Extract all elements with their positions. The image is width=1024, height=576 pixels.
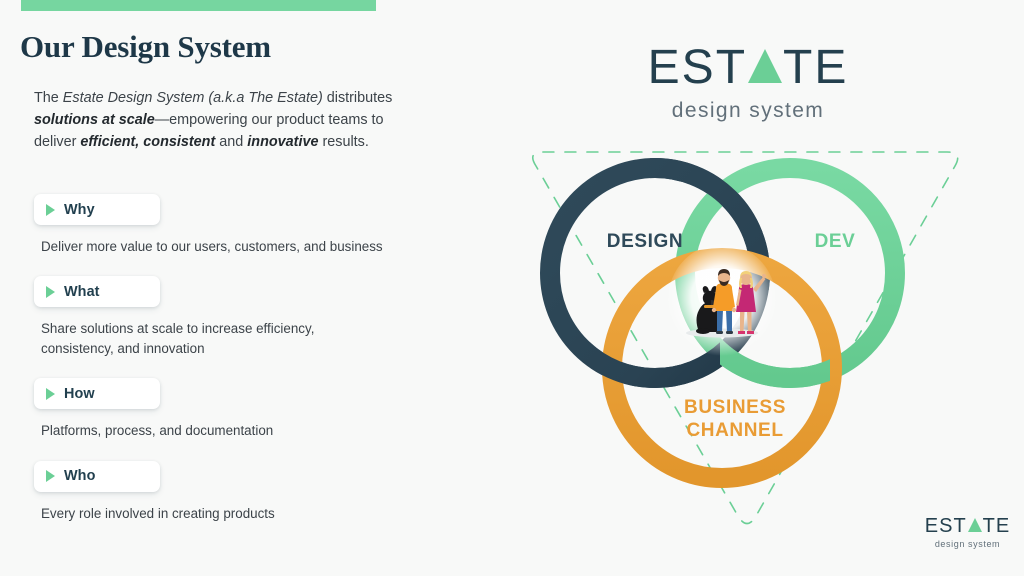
accordion-list: Why Deliver more value to our users, cus… bbox=[34, 194, 434, 523]
design-circle bbox=[550, 168, 760, 378]
man-figure bbox=[712, 269, 736, 334]
intro-text-2: distributes bbox=[323, 90, 393, 106]
dashed-triangle-outline bbox=[533, 152, 958, 524]
accordion-label-why: Why bbox=[64, 202, 95, 218]
logo-footer-text-after: TE bbox=[983, 516, 1011, 536]
business-channel-circle bbox=[612, 258, 832, 478]
accordion-body-how: Platforms, process, and documentation bbox=[41, 421, 386, 440]
logo-text-before: EST bbox=[648, 44, 747, 92]
center-glow bbox=[668, 244, 776, 356]
accordion-body-what: Share solutions at scale to increase eff… bbox=[41, 319, 386, 358]
estate-logo-footer-subtitle: design system bbox=[920, 539, 1015, 549]
intro-emphasis-3: efficient, consistent bbox=[80, 134, 215, 150]
left-content-column: Our Design System The Estate Design Syst… bbox=[0, 0, 470, 576]
estate-logo-footer-wordmark: EST TE bbox=[920, 516, 1015, 536]
accordion-item-how: How Platforms, process, and documentatio… bbox=[34, 378, 434, 440]
dev-circle bbox=[685, 168, 895, 378]
estate-logo-wordmark: EST TE bbox=[648, 44, 848, 92]
accordion-label-how: How bbox=[64, 386, 95, 402]
accordion-item-who: Who Every role involved in creating prod… bbox=[34, 461, 434, 523]
accordion-header-what[interactable]: What bbox=[34, 276, 160, 307]
venn-label-business-line1: BUSINESS bbox=[645, 396, 825, 419]
accordion-header-why[interactable]: Why bbox=[34, 194, 160, 225]
venn-label-business-line2: CHANNEL bbox=[645, 419, 825, 442]
page-title: Our Design System bbox=[20, 30, 271, 64]
triangle-a-icon bbox=[968, 518, 982, 532]
dev-circle-overlap bbox=[685, 168, 895, 378]
dog-figure bbox=[696, 286, 721, 334]
play-triangle-icon bbox=[46, 388, 55, 400]
intro-text-5: results. bbox=[318, 134, 368, 150]
triangle-a-icon bbox=[748, 49, 782, 83]
design-circle-overlap-2 bbox=[550, 168, 760, 378]
slide-root: Our Design System The Estate Design Syst… bbox=[0, 0, 1024, 576]
design-circle-overlap bbox=[550, 168, 760, 378]
intro-text-1: The bbox=[34, 90, 63, 106]
accordion-item-why: Why Deliver more value to our users, cus… bbox=[34, 194, 434, 256]
accordion-header-who[interactable]: Who bbox=[34, 461, 160, 492]
right-visual-column: EST TE design system bbox=[470, 0, 1024, 576]
logo-footer-text-before: EST bbox=[925, 516, 967, 536]
play-triangle-icon bbox=[46, 286, 55, 298]
accordion-item-what: What Share solutions at scale to increas… bbox=[34, 276, 434, 358]
play-triangle-icon bbox=[46, 204, 55, 216]
accordion-label-what: What bbox=[64, 284, 100, 300]
estate-logo-footer: EST TE design system bbox=[920, 516, 1015, 549]
venn-label-design: DESIGN bbox=[570, 230, 720, 253]
intro-paragraph: The Estate Design System (a.k.a The Esta… bbox=[34, 88, 412, 154]
accordion-label-who: Who bbox=[64, 468, 95, 484]
family-with-dog-illustration bbox=[686, 269, 766, 338]
play-triangle-icon bbox=[46, 470, 55, 482]
estate-logo-subtitle: design system bbox=[648, 99, 848, 123]
intro-emphasis-2: solutions at scale bbox=[34, 112, 155, 128]
intro-emphasis-1: Estate Design System (a.k.a The Estate) bbox=[63, 90, 323, 106]
logo-text-after: TE bbox=[783, 44, 848, 92]
venn-label-business-channel: BUSINESS CHANNEL bbox=[645, 396, 825, 442]
accordion-body-who: Every role involved in creating products bbox=[41, 504, 386, 523]
venn-label-dev: DEV bbox=[770, 230, 900, 253]
woman-figure bbox=[736, 271, 766, 334]
estate-logo-main: EST TE design system bbox=[648, 44, 848, 123]
accordion-header-how[interactable]: How bbox=[34, 378, 160, 409]
intro-emphasis-4: innovative bbox=[247, 134, 318, 150]
accordion-body-why: Deliver more value to our users, custome… bbox=[41, 237, 386, 256]
intro-text-4: and bbox=[215, 134, 247, 150]
